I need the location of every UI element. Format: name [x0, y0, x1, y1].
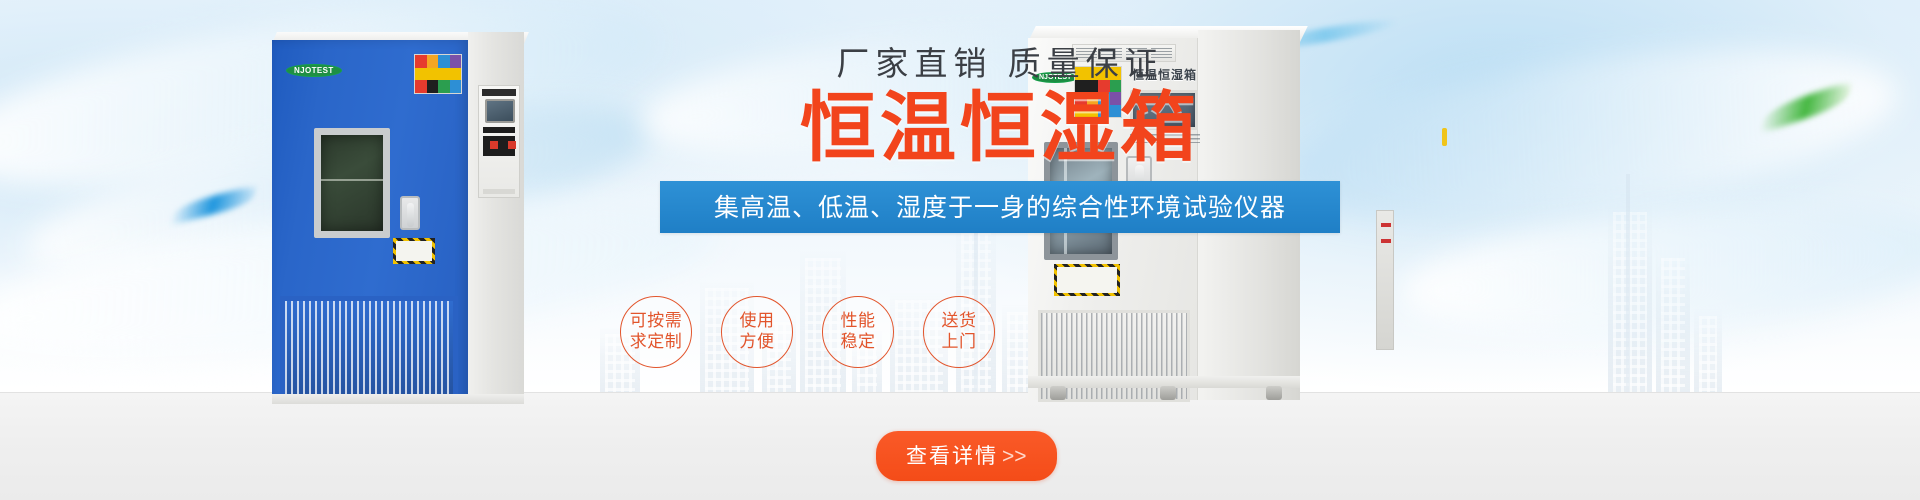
chevron-right-icon: >> — [1002, 445, 1027, 468]
brand-logo: NJOTEST — [286, 64, 342, 77]
banner-copy: 厂家直销 质量保证 恒温恒湿箱 集高温、低温、湿度于一身的综合性环境试验仪器 — [660, 46, 1340, 233]
badge-line-1: 送货 — [942, 311, 977, 332]
chamber-body: NJOTEST — [272, 40, 468, 402]
feature-badge-delivery[interactable]: 送货 上门 — [923, 296, 995, 368]
warning-label — [393, 238, 435, 264]
feature-badge-stable[interactable]: 性能 稳定 — [822, 296, 894, 368]
chamber-viewport — [314, 128, 390, 238]
badge-line-1: 可按需 — [630, 311, 683, 332]
chamber-base — [272, 394, 524, 404]
badge-line-1: 使用 — [740, 311, 775, 332]
side-indicator — [1442, 128, 1447, 146]
cta-label: 查看详情 — [906, 445, 998, 468]
safety-sticker-grid — [414, 54, 462, 94]
view-details-button[interactable]: 查看详情>> — [876, 431, 1057, 481]
control-panel-label — [482, 89, 516, 96]
controller-buttons — [483, 136, 515, 156]
promo-banner: NJOTEST — [0, 0, 1920, 500]
feature-badge-custom[interactable]: 可按需 求定制 — [620, 296, 692, 368]
feature-badge-easy-use[interactable]: 使用 方便 — [721, 296, 793, 368]
badge-line-1: 性能 — [841, 311, 876, 332]
caster-wheel — [1160, 386, 1176, 400]
product-image-left-chamber: NJOTEST — [272, 30, 524, 402]
headline-text: 恒温恒湿箱 — [660, 86, 1340, 171]
badge-line-2: 方便 — [740, 332, 775, 353]
feature-badge-list: 可按需 求定制 使用 方便 性能 稳定 送货 上门 — [612, 282, 1392, 382]
caster-wheel — [1266, 386, 1282, 400]
subtitle-bar: 集高温、低温、湿度于一身的综合性环境试验仪器 — [660, 181, 1340, 233]
control-panel-footer — [483, 189, 515, 194]
badge-line-2: 稳定 — [841, 332, 876, 353]
badge-line-2: 上门 — [942, 332, 977, 353]
condenser-grille — [280, 296, 458, 404]
chamber-door-handle — [400, 196, 420, 230]
eyebrow-text: 厂家直销 质量保证 — [660, 46, 1340, 82]
controller-screen — [485, 99, 515, 123]
control-panel — [478, 85, 520, 198]
controller-strip — [483, 127, 515, 133]
badge-line-2: 求定制 — [630, 332, 683, 353]
caster-wheel — [1050, 386, 1066, 400]
